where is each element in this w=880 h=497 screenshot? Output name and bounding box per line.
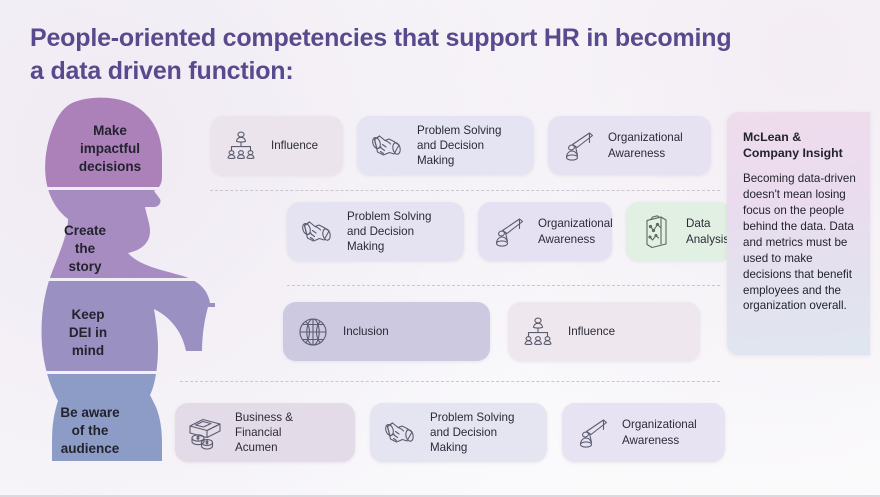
mclean-company-insight-panel: McLean & Company Insight Becoming data-d… [727,112,870,355]
row-divider [180,381,720,382]
competency-card[interactable]: Problem Solving and Decision Making [357,116,534,175]
data-clipboard-icon [637,213,675,251]
competency-card-label: Influence [568,324,615,339]
slide-canvas: People-oriented competencies that suppor… [0,0,880,497]
competency-card[interactable]: Organizational Awareness [548,116,711,175]
presentation-flag-icon [559,127,597,165]
competency-card-label: Problem Solving and Decision Making [347,209,450,255]
competency-row: InclusionInfluence [283,302,700,361]
competency-card-label: Problem Solving and Decision Making [430,410,533,456]
band-keep-dei-in-mind [10,281,215,371]
insight-body: Becoming data-driven doesn't mean losing… [743,171,856,314]
competency-card[interactable]: Influence [508,302,700,361]
competency-card[interactable]: Business & Financial Acumen [175,403,355,462]
competency-card-label: Organizational Awareness [608,130,683,161]
band-make-impactful-decisions [10,95,215,187]
org-chart-icon [519,313,557,351]
org-chart-icon [222,127,260,165]
presentation-flag-icon [489,213,527,251]
row-divider [210,190,720,191]
competency-card-label: Organizational Awareness [622,417,697,448]
competency-card[interactable]: Inclusion [283,302,490,361]
handshake-icon [381,414,419,452]
competency-card[interactable]: Influence [211,116,343,175]
competency-card-label: Problem Solving and Decision Making [417,123,520,169]
competency-card-label: Influence [271,138,318,153]
competency-card[interactable]: Problem Solving and Decision Making [287,202,464,261]
competency-row: Problem Solving and Decision MakingOrgan… [287,202,732,261]
competency-card-label: Inclusion [343,324,389,339]
band-create-the-story [10,190,215,278]
competency-card[interactable]: Problem Solving and Decision Making [370,403,547,462]
globe-icon [294,313,332,351]
row-divider [287,285,720,286]
handshake-icon [298,213,336,251]
competency-card-label: Data Analysis [686,216,729,247]
insight-title: McLean & Company Insight [743,129,856,161]
page-title: People-oriented competencies that suppor… [30,22,750,89]
competency-row: Business & Financial AcumenProblem Solvi… [175,403,725,462]
competency-card[interactable]: Organizational Awareness [478,202,612,261]
competency-card[interactable]: Organizational Awareness [562,403,725,462]
presentation-flag-icon [573,414,611,452]
money-stack-icon [186,414,224,452]
competency-card-label: Business & Financial Acumen [235,410,341,456]
competency-row: InfluenceProblem Solving and Decision Ma… [211,116,711,175]
handshake-icon [368,127,406,165]
competency-card[interactable]: Data Analysis [626,202,732,261]
competency-card-label: Organizational Awareness [538,216,613,247]
